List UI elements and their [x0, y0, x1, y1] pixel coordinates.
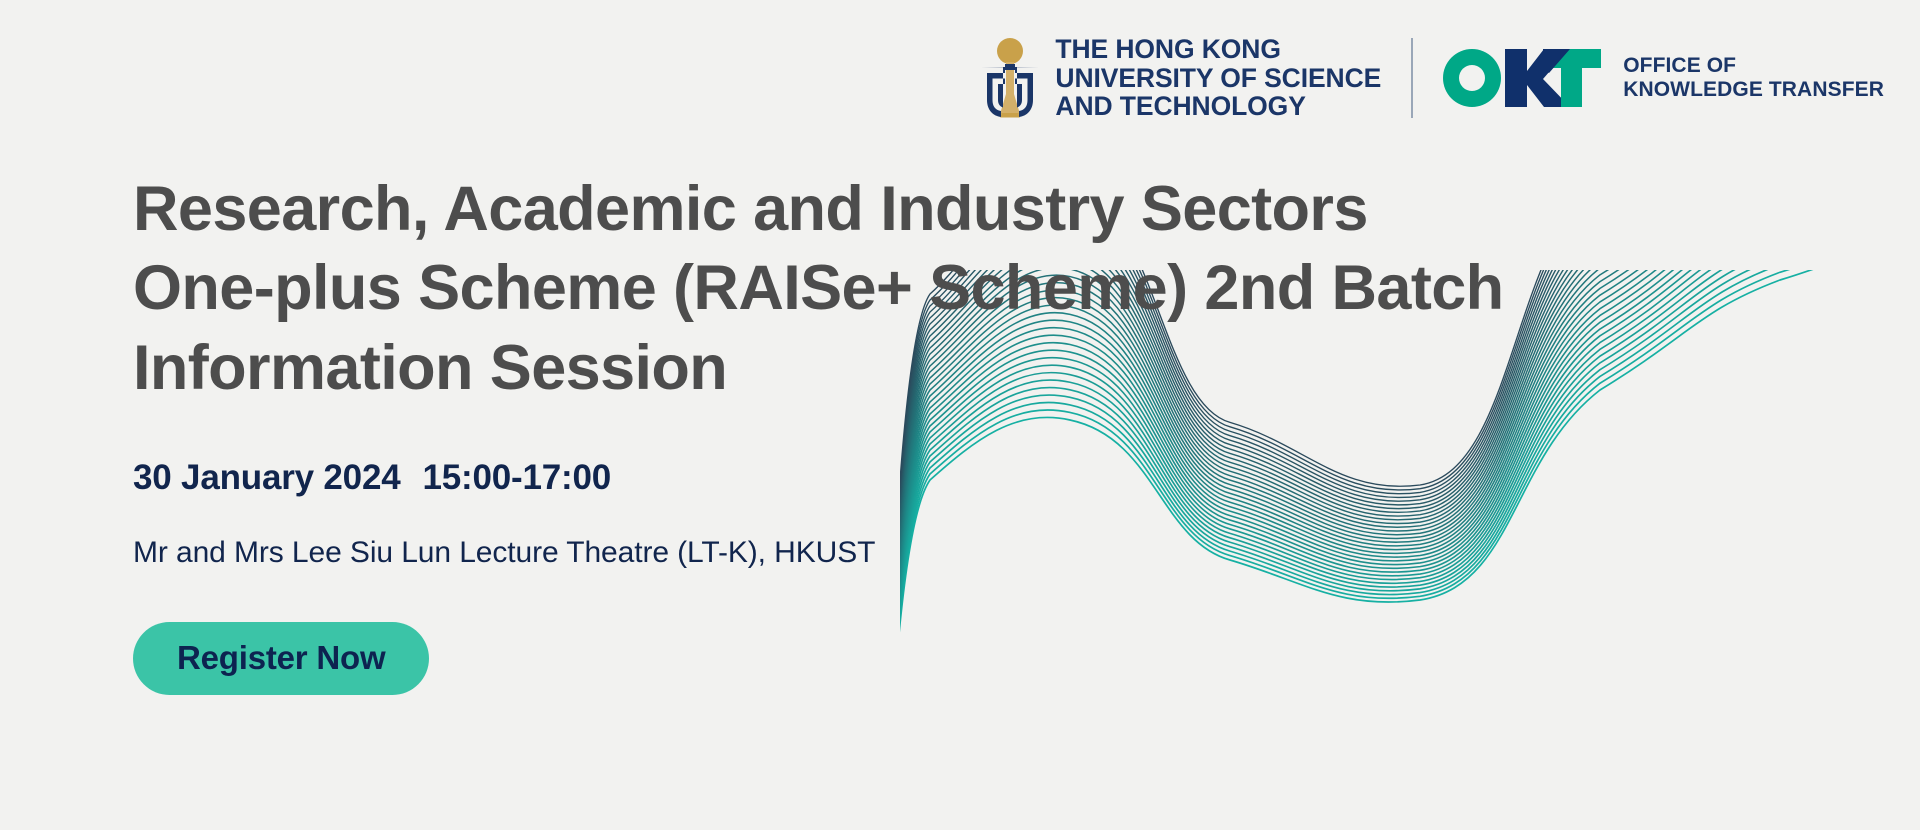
event-title: Research, Academic and Industry Sectors … [133, 170, 1793, 408]
event-title-line-2: One-plus Scheme (RAISe+ Scheme) 2nd Batc… [133, 249, 1793, 328]
hkust-wordmark-line2: UNIVERSITY OF SCIENCE [1055, 64, 1381, 93]
event-venue: Mr and Mrs Lee Siu Lun Lecture Theatre (… [133, 536, 1833, 570]
hkust-wordmark-line1: THE HONG KONG [1055, 35, 1381, 64]
hkust-emblem-icon [979, 34, 1041, 122]
register-now-button[interactable]: Register Now [133, 622, 429, 695]
logo-bar: THE HONG KONG UNIVERSITY OF SCIENCE AND … [979, 32, 1884, 124]
event-title-line-3: Information Session [133, 329, 1793, 408]
okt-wordmark-line2: KNOWLEDGE TRANSFER [1623, 78, 1884, 102]
banner-content: Research, Academic and Industry Sectors … [133, 170, 1833, 695]
logo-divider [1411, 38, 1413, 118]
event-banner: THE HONG KONG UNIVERSITY OF SCIENCE AND … [0, 0, 1920, 830]
hkust-wordmark: THE HONG KONG UNIVERSITY OF SCIENCE AND … [1055, 35, 1381, 121]
event-datetime: 30 January 2024 15:00-17:00 [133, 458, 1833, 498]
hkust-wordmark-line3: AND TECHNOLOGY [1055, 92, 1381, 121]
event-time: 15:00-17:00 [422, 458, 611, 498]
okt-logo-icon [1439, 41, 1607, 115]
okt-logo: OFFICE OF KNOWLEDGE TRANSFER [1439, 41, 1884, 115]
event-date: 30 January 2024 [133, 458, 400, 498]
hkust-logo: THE HONG KONG UNIVERSITY OF SCIENCE AND … [979, 32, 1381, 124]
okt-wordmark: OFFICE OF KNOWLEDGE TRANSFER [1623, 54, 1884, 101]
event-title-line-1: Research, Academic and Industry Sectors [133, 170, 1793, 249]
okt-wordmark-line1: OFFICE OF [1623, 54, 1884, 78]
